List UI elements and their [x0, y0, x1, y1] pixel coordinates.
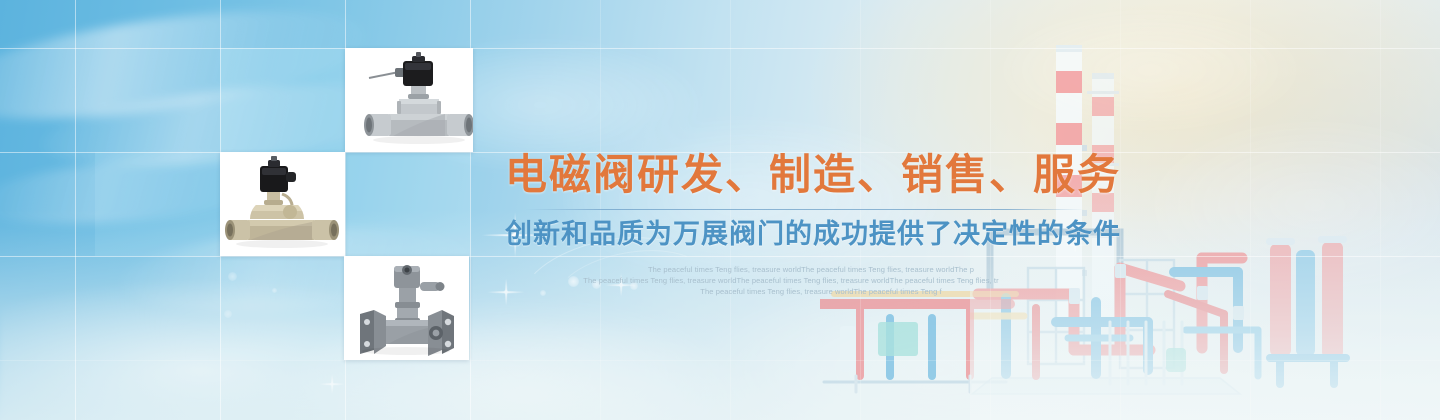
banner-copy: 电磁阀研发、制造、销售、服务 创新和品质为万展阀门的成功提供了决定性的条件 Th… [505, 150, 1105, 297]
hero-banner: 电磁阀研发、制造、销售、服务 创新和品质为万展阀门的成功提供了决定性的条件 Th… [0, 0, 1440, 420]
fineprint-line: The peaceful times Teng flies, treasure … [491, 275, 1091, 286]
solenoid-valve-flanged-icon [344, 256, 469, 360]
banner-fineprint: The peaceful times Teng flies, treasure … [505, 264, 1105, 297]
banner-subheadline: 创新和品质为万展阀门的成功提供了决定性的条件 [505, 218, 1105, 252]
product-card-solenoid-valve-flanged[interactable] [344, 256, 469, 360]
product-card-solenoid-valve-threaded-mid[interactable] [220, 152, 345, 256]
solenoid-valve-brass-icon [220, 152, 345, 256]
fineprint-line: The peaceful times Teng flies, treasure … [521, 286, 1121, 297]
solenoid-valve-threaded-icon [345, 48, 473, 152]
product-card-solenoid-valve-threaded-top[interactable] [345, 48, 473, 152]
headline-divider [525, 209, 1085, 210]
banner-headline: 电磁阀研发、制造、销售、服务 [505, 150, 1105, 200]
fineprint-line: The peaceful times Teng flies, treasure … [511, 264, 1111, 275]
